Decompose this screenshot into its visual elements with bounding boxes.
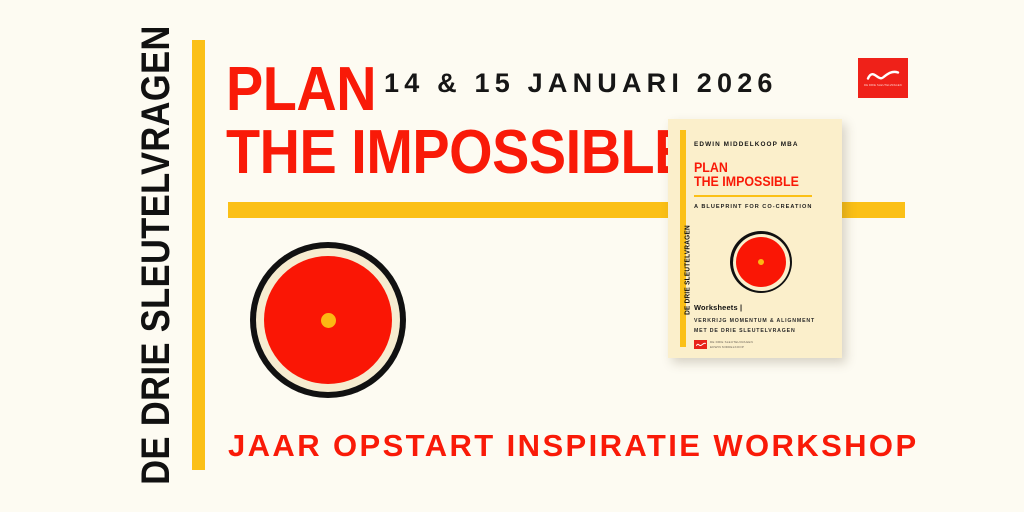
vertical-brand-label: DE DRIE SLEUTELVRAGEN [136, 25, 176, 484]
event-tagline: JAAR OPSTART INSPIRATIE WORKSHOP [228, 428, 919, 464]
book-author: EDWIN MIDDELKOOP MBA [694, 141, 830, 148]
wave-icon [866, 69, 900, 82]
book-description-line-2: MET DE DRIE SLEUTELVRAGEN [694, 327, 815, 337]
brand-logo-caption: DE DRIE SLEUTELVRAGEN [864, 84, 902, 87]
book-description-line-1: VERKRIJG MOMENTUM & ALIGNMENT [694, 317, 815, 327]
poster-canvas: DE DRIE SLEUTELVRAGEN PLAN THE IMPOSSIBL… [0, 0, 1024, 512]
circle-core-dot [321, 313, 336, 328]
book-target-circle-icon [730, 231, 792, 293]
circle-ring-gap [256, 248, 400, 392]
book-footer-logo-line-2: EDWIN MIDDELKOOP [710, 345, 744, 349]
brand-logo[interactable]: DE DRIE SLEUTELVRAGEN [858, 58, 908, 98]
book-worksheets-label: Worksheets | [694, 303, 742, 312]
book-footer-logo-text: DE DRIE SLEUTELVRAGEN EDWIN MIDDELKOOP [710, 340, 753, 349]
wave-icon [694, 340, 707, 349]
book-subtitle: A BLUEPRINT FOR CO-CREATION [694, 204, 830, 210]
vertical-brand-text: DE DRIE SLEUTELVRAGEN [135, 45, 177, 465]
book-circle-core-dot [758, 259, 764, 265]
headline-line-2: THE IMPOSSIBLE [226, 123, 604, 184]
book-spine-label: DE DRIE SLEUTELVRAGEN [683, 225, 692, 315]
book-cover-mockup: EDWIN MIDDELKOOP MBA PLAN THE IMPOSSIBLE… [668, 119, 842, 358]
book-title: PLAN THE IMPOSSIBLE [694, 161, 830, 189]
vertical-accent-bar [192, 40, 205, 470]
target-circle-icon [250, 242, 406, 398]
book-title-line-1: PLAN [694, 161, 819, 175]
book-circle-red-disc [736, 237, 786, 287]
book-footer-logo: DE DRIE SLEUTELVRAGEN EDWIN MIDDELKOOP [694, 340, 753, 349]
circle-red-disc [264, 256, 392, 384]
book-title-line-2: THE IMPOSSIBLE [694, 175, 819, 189]
event-date: 14 & 15 JANUARI 2026 [384, 68, 778, 99]
book-title-rule [694, 195, 812, 198]
book-circle-ring-gap [733, 234, 790, 291]
book-footer-logo-line-1: DE DRIE SLEUTELVRAGEN [710, 340, 753, 344]
book-description: VERKRIJG MOMENTUM & ALIGNMENT MET DE DRI… [694, 317, 815, 336]
book-spine-text: DE DRIE SLEUTELVRAGEN [680, 227, 694, 313]
